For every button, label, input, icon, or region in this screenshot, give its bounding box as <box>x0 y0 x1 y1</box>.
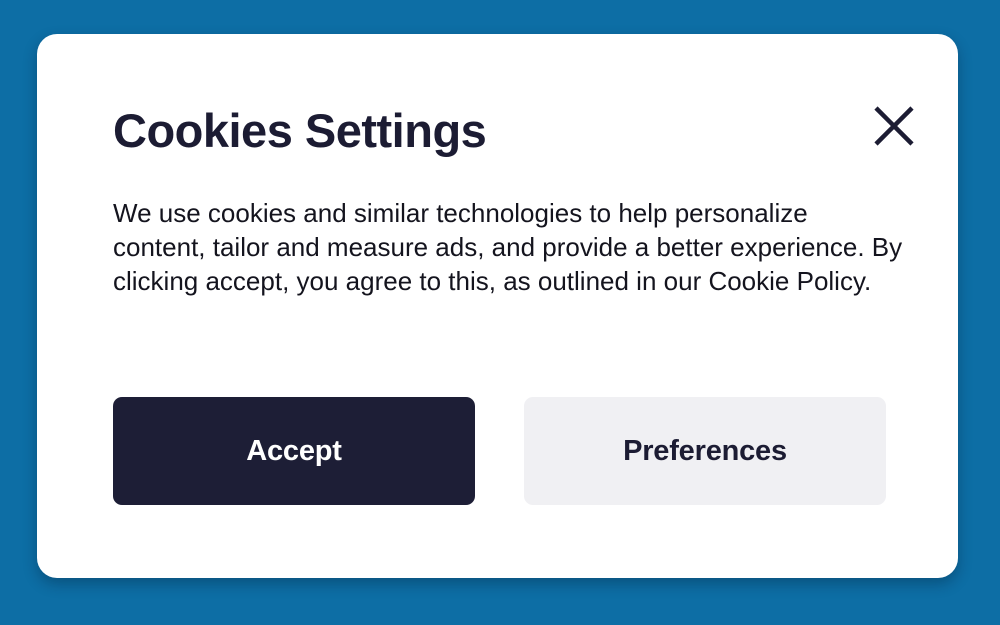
close-button[interactable] <box>867 99 921 153</box>
accept-button[interactable]: Accept <box>113 397 475 505</box>
close-icon <box>873 105 915 147</box>
page-title: Cookies Settings <box>113 106 486 155</box>
dialog-actions: Accept Preferences <box>113 397 886 505</box>
cookies-settings-dialog: Cookies Settings We use cookies and simi… <box>37 34 958 578</box>
consent-description: We use cookies and similar technologies … <box>113 196 903 298</box>
cookie-consent-screen: Cookies Settings We use cookies and simi… <box>0 0 1000 625</box>
preferences-button[interactable]: Preferences <box>524 397 886 505</box>
